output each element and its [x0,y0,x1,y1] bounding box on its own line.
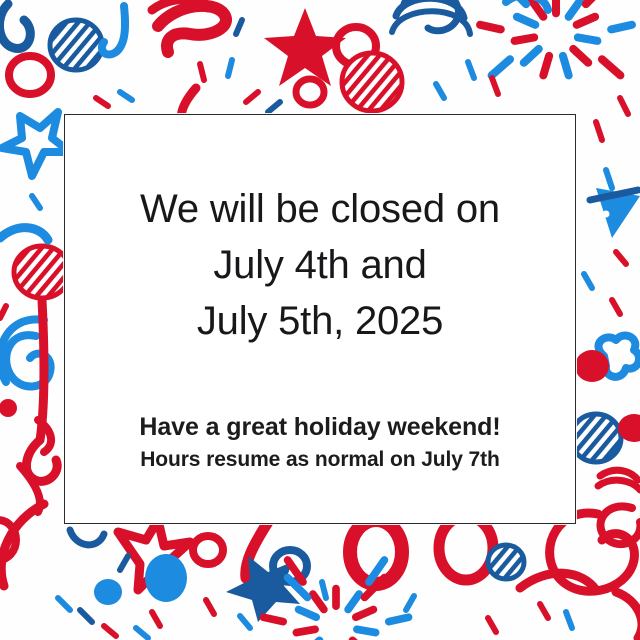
headline-line-1: We will be closed on [65,181,575,237]
headline-line-3: July 5th, 2025 [65,293,575,349]
headline-line-2: July 4th and [65,237,575,293]
closure-notice-card: We will be closed on July 4th and July 5… [64,114,576,524]
subtext-block: Have a great holiday weekend! Hours resu… [65,411,575,475]
hours-resume-text: Hours resume as normal on July 7th [65,445,575,475]
headline-block: We will be closed on July 4th and July 5… [65,181,575,349]
holiday-wish-text: Have a great holiday weekend! [65,411,575,443]
poster-canvas: We will be closed on July 4th and July 5… [0,0,640,640]
